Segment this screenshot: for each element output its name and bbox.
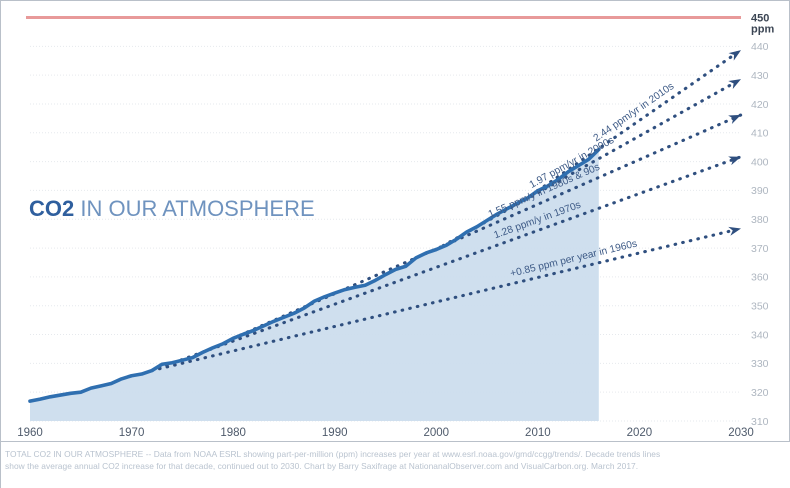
x-tick-label: 1970 xyxy=(119,427,145,439)
co2-line-chart: 3103203303403503603703803904004104204304… xyxy=(1,1,790,441)
x-tick-label: 2030 xyxy=(728,427,754,439)
title-light-part: IN OUR ATMOSPHERE xyxy=(74,196,314,221)
y-tick-label: 370 xyxy=(751,243,769,255)
x-tick-label: 1980 xyxy=(220,427,246,439)
chart-page: 3103203303403503603703803904004104204304… xyxy=(0,0,790,488)
x-tick-label: 2000 xyxy=(423,427,449,439)
y-tick-label: 310 xyxy=(751,416,769,428)
footer-line-2: show the average annual CO2 increase for… xyxy=(5,461,787,473)
x-tick-label: 2020 xyxy=(627,427,653,439)
y-tick-label: 410 xyxy=(751,128,769,140)
title-bold-part: CO2 xyxy=(29,196,74,221)
footer-panel: TOTAL CO2 IN OUR ATMOSPHERE -- Data from… xyxy=(1,441,790,488)
y-axis-labels: 3103203303403503603703803904004104204304… xyxy=(751,13,774,428)
y-tick-label: 380 xyxy=(751,214,769,226)
y-tick-label: 330 xyxy=(751,358,769,370)
y-tick-label: 440 xyxy=(751,41,769,53)
chart-plot-area: 3103203303403503603703803904004104204304… xyxy=(1,1,790,441)
y-tick-label: 340 xyxy=(751,329,769,341)
x-tick-label: 2010 xyxy=(525,427,551,439)
y-tick-label: 420 xyxy=(751,99,769,111)
title-text: CO2 IN OUR ATMOSPHERE xyxy=(29,196,315,221)
footer-line-1: TOTAL CO2 IN OUR ATMOSPHERE -- Data from… xyxy=(5,449,787,461)
y-tick-label: 360 xyxy=(751,272,769,284)
footer-caption: TOTAL CO2 IN OUR ATMOSPHERE -- Data from… xyxy=(1,442,790,472)
y-tick-label: 430 xyxy=(751,70,769,82)
y-tick-label: 350 xyxy=(751,301,769,313)
y-tick-label: 400 xyxy=(751,156,769,168)
y-tick-label: 320 xyxy=(751,387,769,399)
y-unit-label: ppm xyxy=(751,24,774,36)
trend-annotation-label: 2.44 ppm/yr in 2010s xyxy=(592,81,676,144)
x-tick-label: 1990 xyxy=(322,427,348,439)
chart-title: CO2 IN OUR ATMOSPHERE xyxy=(29,196,315,221)
y-tick-label: 390 xyxy=(751,185,769,197)
x-axis-labels: 19601970198019902000201020202030 xyxy=(17,427,754,439)
x-tick-label: 1960 xyxy=(17,427,43,439)
